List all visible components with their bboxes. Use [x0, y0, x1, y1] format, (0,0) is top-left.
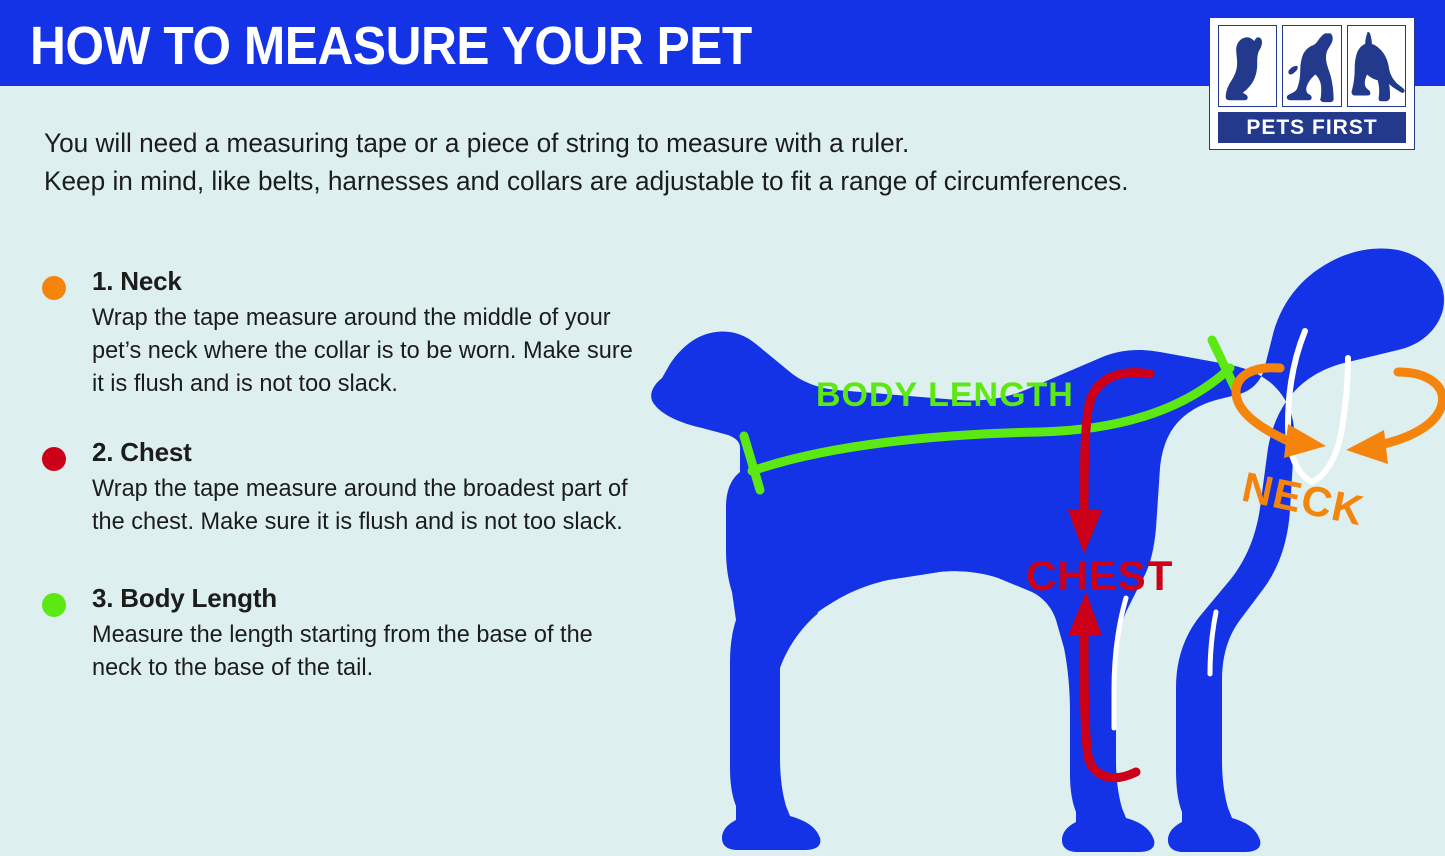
- bullet-dot-body-length: [42, 593, 66, 617]
- dog-silhouette: [651, 249, 1444, 853]
- intro-line-2: Keep in mind, like belts, harnesses and …: [44, 162, 1237, 200]
- body-length-label: BODY LENGTH: [816, 376, 1074, 414]
- chest-label: CHEST: [1026, 552, 1173, 599]
- logo-wordmark: PETS FIRST: [1218, 112, 1406, 143]
- intro-line-1: You will need a measuring tape or a piec…: [44, 124, 1237, 162]
- step-body-neck: Wrap the tape measure around the middle …: [92, 301, 641, 400]
- dog-sitting-silhouette-icon: [1218, 25, 1277, 107]
- step-body-body-length: Measure the length starting from the bas…: [92, 618, 641, 684]
- dog-howling-silhouette-icon: [1282, 25, 1341, 107]
- step-item-chest: 2. Chest Wrap the tape measure around th…: [42, 437, 642, 538]
- step-heading-chest: 2. Chest: [92, 437, 642, 468]
- bullet-dot-neck: [42, 276, 66, 300]
- step-heading-neck: 1. Neck: [92, 266, 642, 297]
- brand-logo: PETS FIRST: [1209, 17, 1415, 150]
- bullet-dot-chest: [42, 447, 66, 471]
- logo-icon-row: [1218, 25, 1406, 107]
- dog-sitting-side-silhouette-icon: [1347, 25, 1406, 107]
- pet-measurement-diagram: BODY LENGTH NECK CHEST: [640, 228, 1445, 856]
- measurement-steps-list: 1. Neck Wrap the tape measure around the…: [42, 266, 642, 717]
- page-title: HOW TO MEASURE YOUR PET: [30, 17, 752, 75]
- step-item-body-length: 3. Body Length Measure the length starti…: [42, 583, 642, 684]
- step-item-neck: 1. Neck Wrap the tape measure around the…: [42, 266, 642, 400]
- step-body-chest: Wrap the tape measure around the broades…: [92, 472, 641, 538]
- step-heading-body-length: 3. Body Length: [92, 583, 642, 614]
- intro-text: You will need a measuring tape or a piec…: [44, 124, 1237, 200]
